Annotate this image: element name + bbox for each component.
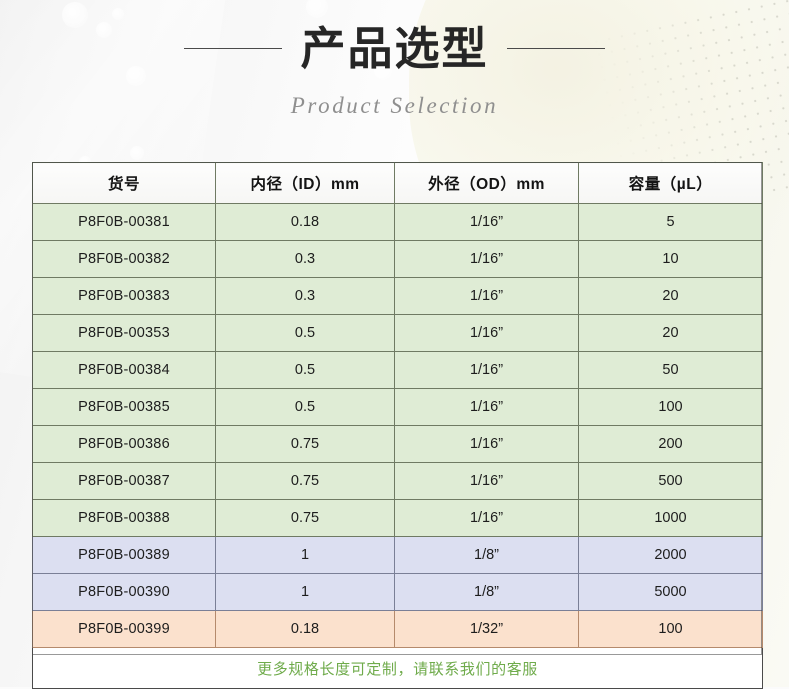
page-subtitle: Product Selection (0, 93, 789, 119)
specification-table: 货号 内径（ID）mm 外径（OD）mm 容量（µL） P8F0B-003810… (32, 162, 763, 689)
cell-outer-diameter: 1/16” (395, 204, 579, 241)
cell-code: P8F0B-00387 (33, 463, 216, 500)
cell-volume: 1000 (579, 500, 763, 537)
cell-code: P8F0B-00382 (33, 241, 216, 278)
cell-code: P8F0B-00399 (33, 611, 216, 648)
cell-volume: 5000 (579, 574, 763, 611)
cell-volume: 5 (579, 204, 763, 241)
table-footnote: 更多规格长度可定制，请联系我们的客服 (33, 648, 763, 689)
table-row: P8F0B-003840.51/16”50 (33, 352, 763, 389)
table-footnote-row: 更多规格长度可定制，请联系我们的客服 (33, 648, 763, 689)
cell-outer-diameter: 1/8” (395, 537, 579, 574)
cell-volume: 50 (579, 352, 763, 389)
table-row: P8F0B-0039011/8”5000 (33, 574, 763, 611)
cell-outer-diameter: 1/16” (395, 315, 579, 352)
cell-inner-diameter: 0.5 (216, 352, 395, 389)
cell-inner-diameter: 0.75 (216, 426, 395, 463)
cell-code: P8F0B-00389 (33, 537, 216, 574)
table-header-row: 货号 内径（ID）mm 外径（OD）mm 容量（µL） (33, 163, 763, 204)
cell-volume: 200 (579, 426, 763, 463)
cell-volume: 500 (579, 463, 763, 500)
table-row: P8F0B-003850.51/16”100 (33, 389, 763, 426)
cell-outer-diameter: 1/16” (395, 241, 579, 278)
table-header: 货号 内径（ID）mm 外径（OD）mm 容量（µL） (33, 163, 763, 204)
table-row: P8F0B-003860.751/16”200 (33, 426, 763, 463)
table-row: P8F0B-003530.51/16”20 (33, 315, 763, 352)
cell-code: P8F0B-00385 (33, 389, 216, 426)
table-row: P8F0B-003870.751/16”500 (33, 463, 763, 500)
table-row: P8F0B-003830.31/16”20 (33, 278, 763, 315)
page-header: 产品选型 Product Selection (0, 0, 789, 155)
cell-inner-diameter: 1 (216, 537, 395, 574)
cell-outer-diameter: 1/16” (395, 426, 579, 463)
cell-inner-diameter: 0.3 (216, 241, 395, 278)
cell-code: P8F0B-00388 (33, 500, 216, 537)
cell-code: P8F0B-00381 (33, 204, 216, 241)
column-header-od: 外径（OD）mm (395, 163, 579, 204)
title-rule-left-icon (184, 48, 282, 49)
cell-code: P8F0B-00384 (33, 352, 216, 389)
cell-outer-diameter: 1/16” (395, 389, 579, 426)
column-header-code: 货号 (33, 163, 216, 204)
column-header-volume: 容量（µL） (579, 163, 763, 204)
cell-outer-diameter: 1/32” (395, 611, 579, 648)
cell-inner-diameter: 0.18 (216, 611, 395, 648)
title-row: 产品选型 (0, 26, 789, 71)
table-row: P8F0B-003880.751/16”1000 (33, 500, 763, 537)
cell-volume: 2000 (579, 537, 763, 574)
cell-outer-diameter: 1/8” (395, 574, 579, 611)
title-rule-right-icon (507, 48, 605, 49)
cell-code: P8F0B-00390 (33, 574, 216, 611)
cell-outer-diameter: 1/16” (395, 352, 579, 389)
table-row: P8F0B-003810.181/16”5 (33, 204, 763, 241)
table-row: P8F0B-003820.31/16”10 (33, 241, 763, 278)
page-title: 产品选型 (300, 26, 488, 71)
cell-inner-diameter: 1 (216, 574, 395, 611)
cell-code: P8F0B-00353 (33, 315, 216, 352)
cell-volume: 10 (579, 241, 763, 278)
cell-inner-diameter: 0.75 (216, 500, 395, 537)
cell-volume: 20 (579, 315, 763, 352)
cell-volume: 100 (579, 389, 763, 426)
cell-inner-diameter: 0.18 (216, 204, 395, 241)
table-footer: 更多规格长度可定制，请联系我们的客服 (33, 648, 763, 689)
column-header-id: 内径（ID）mm (216, 163, 395, 204)
cell-inner-diameter: 0.75 (216, 463, 395, 500)
cell-volume: 100 (579, 611, 763, 648)
table-body: P8F0B-003810.181/16”5P8F0B-003820.31/16”… (33, 204, 763, 648)
table-row: P8F0B-003990.181/32”100 (33, 611, 763, 648)
cell-code: P8F0B-00383 (33, 278, 216, 315)
cell-inner-diameter: 0.5 (216, 389, 395, 426)
cell-volume: 20 (579, 278, 763, 315)
cell-inner-diameter: 0.5 (216, 315, 395, 352)
cell-inner-diameter: 0.3 (216, 278, 395, 315)
cell-outer-diameter: 1/16” (395, 278, 579, 315)
table-row: P8F0B-0038911/8”2000 (33, 537, 763, 574)
cell-outer-diameter: 1/16” (395, 500, 579, 537)
cell-outer-diameter: 1/16” (395, 463, 579, 500)
cell-code: P8F0B-00386 (33, 426, 216, 463)
specification-table-wrap: 货号 内径（ID）mm 外径（OD）mm 容量（µL） P8F0B-003810… (32, 162, 762, 689)
